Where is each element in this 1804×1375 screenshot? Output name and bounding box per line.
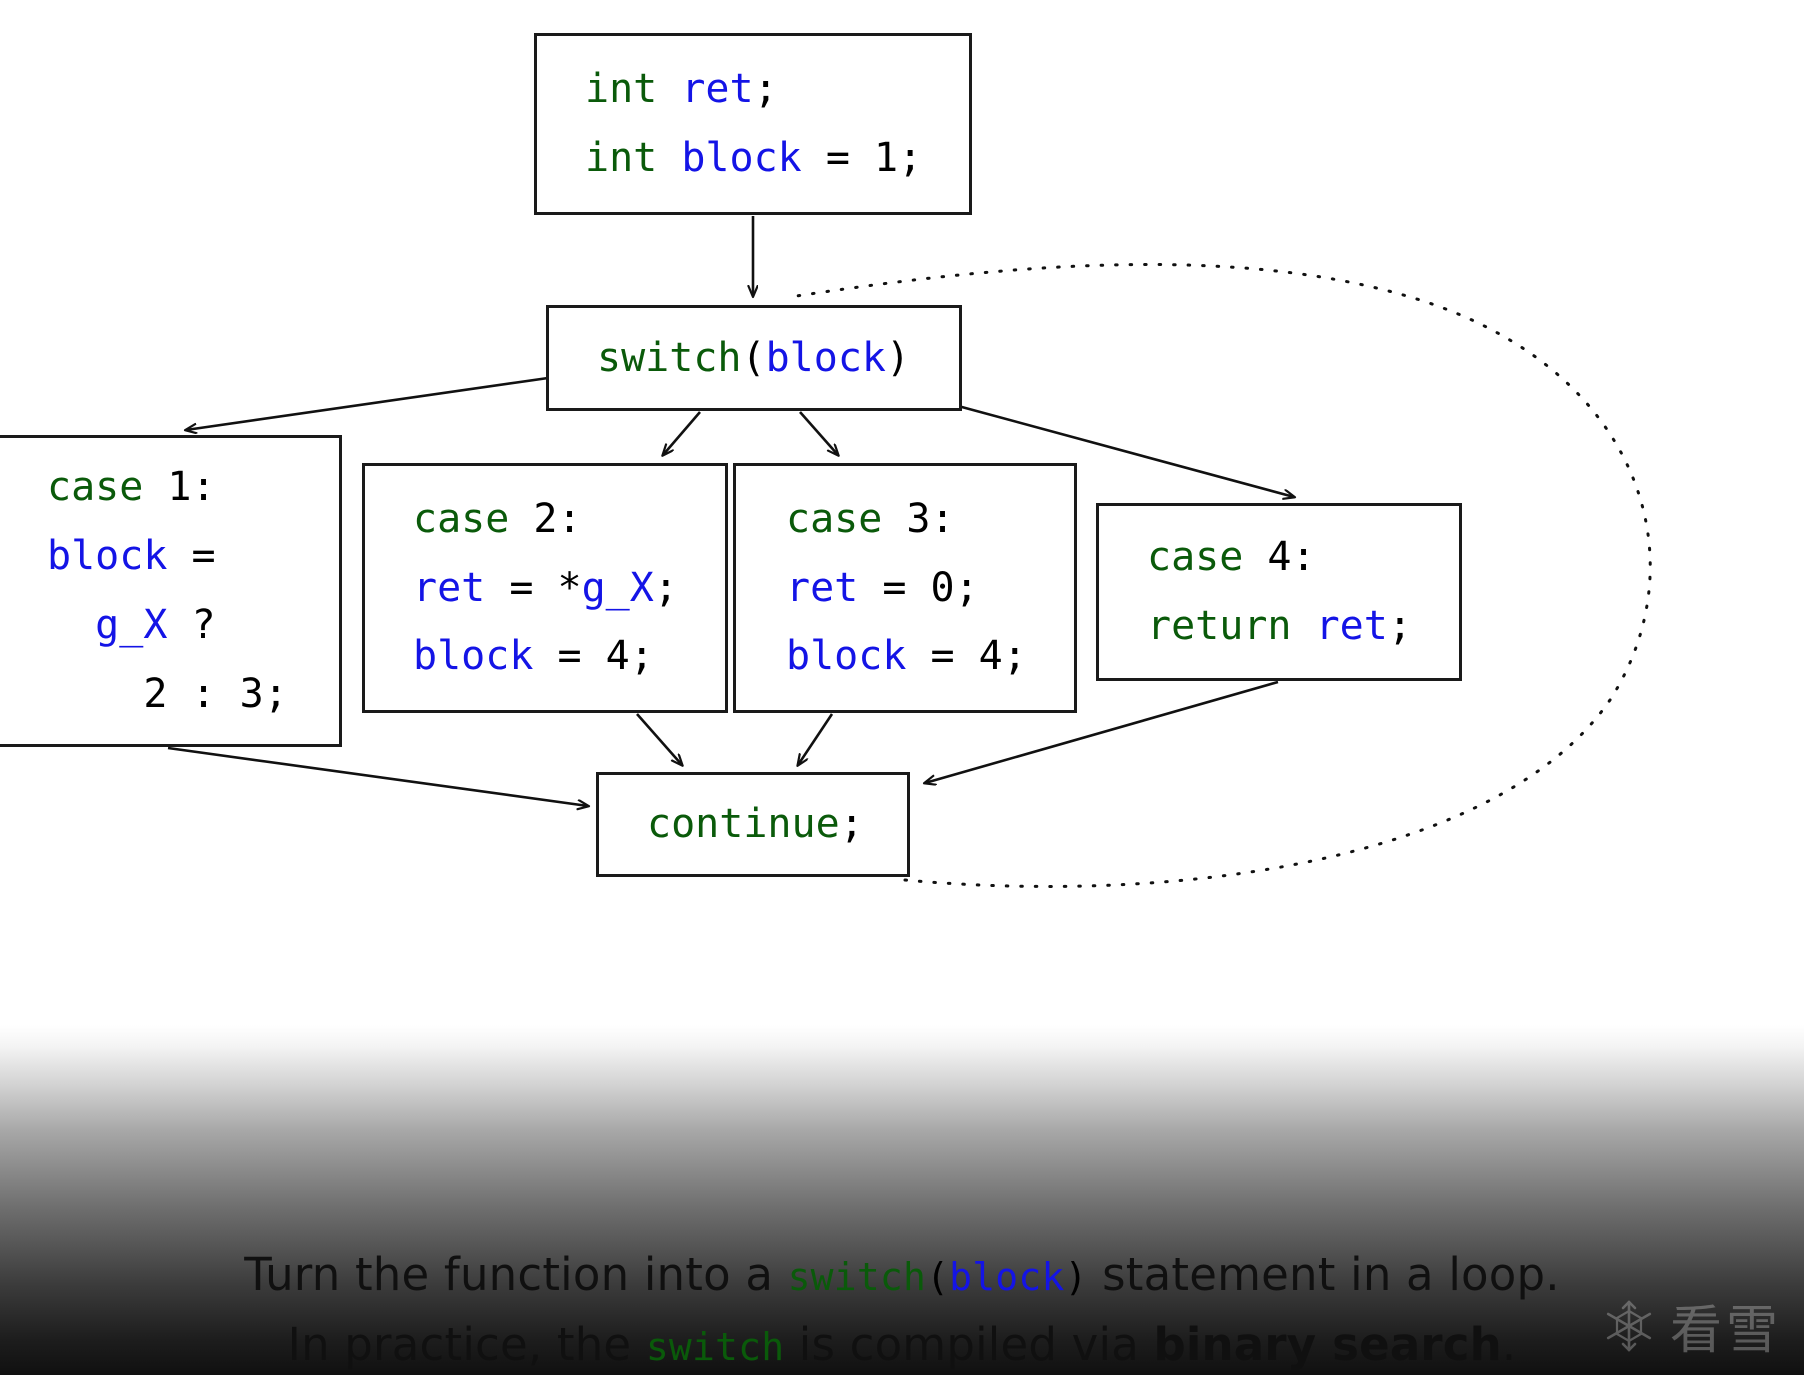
snowflake-icon <box>1600 1297 1658 1355</box>
caption-l1-block-identifier: block <box>949 1255 1064 1299</box>
code-line: block = <box>47 522 339 591</box>
code-line: 2 : 3; <box>47 660 339 729</box>
edge-switch-to-case2 <box>663 412 700 455</box>
switch-box: switch(block) <box>546 305 962 411</box>
caption-line-2: In practice, the switch is compiled via … <box>0 1310 1804 1375</box>
code-line: ret = *g_X; <box>413 554 725 623</box>
code-line: continue; <box>647 790 907 859</box>
case-3-box: case 3: ret = 0; block = 4; <box>733 463 1077 713</box>
code-line: return ret; <box>1147 592 1459 661</box>
caption-l2-text-a: In practice, the <box>288 1318 646 1371</box>
caption-l1-paren-open: ( <box>926 1255 949 1299</box>
code-line: block = 4; <box>786 622 1074 691</box>
code-line: case 4: <box>1147 523 1459 592</box>
code-line: case 2: <box>413 485 725 554</box>
watermark-text: 看雪 <box>1670 1288 1782 1363</box>
code-line: block = 4; <box>413 622 725 691</box>
watermark: 看雪 <box>1600 1288 1782 1363</box>
edge-case1-to-continue <box>168 748 588 806</box>
caption-l2-switch-keyword: switch <box>646 1325 784 1369</box>
code-line: case 1: <box>47 453 339 522</box>
code-line: case 3: <box>786 485 1074 554</box>
edge-switch-to-case3 <box>800 412 838 455</box>
caption-l1-text-b: statement in a loop. <box>1088 1248 1560 1301</box>
caption-l1-paren-close: ) <box>1065 1255 1088 1299</box>
edge-case2-to-continue <box>637 714 682 765</box>
continue-box: continue; <box>596 772 910 877</box>
caption-l2-text-c: . <box>1502 1318 1517 1371</box>
case-2-box: case 2: ret = *g_X; block = 4; <box>362 463 728 713</box>
caption-line-1: Turn the function into a switch(block) s… <box>0 1240 1804 1310</box>
case-1-box: case 1: block = g_X ? 2 : 3; <box>0 435 342 747</box>
edge-case3-to-continue <box>798 714 832 765</box>
caption-l1-switch-keyword: switch <box>788 1255 926 1299</box>
caption: Turn the function into a switch(block) s… <box>0 1240 1804 1375</box>
edge-switch-to-case1 <box>186 378 548 430</box>
code-line: ret = 0; <box>786 554 1074 623</box>
declarations-box: int ret; int block = 1; <box>534 33 972 215</box>
code-line: int block = 1; <box>585 124 969 193</box>
caption-l1-text-a: Turn the function into a <box>244 1248 787 1301</box>
slide-root: int ret; int block = 1; switch(block) ca… <box>0 0 1804 1375</box>
code-line: switch(block) <box>597 324 959 393</box>
case-4-box: case 4: return ret; <box>1096 503 1462 681</box>
caption-l2-binary-search-emphasis: binary search <box>1153 1318 1501 1371</box>
caption-l2-text-b: is compiled via <box>784 1318 1153 1371</box>
code-line: int ret; <box>585 55 969 124</box>
code-line: g_X ? <box>47 591 339 660</box>
